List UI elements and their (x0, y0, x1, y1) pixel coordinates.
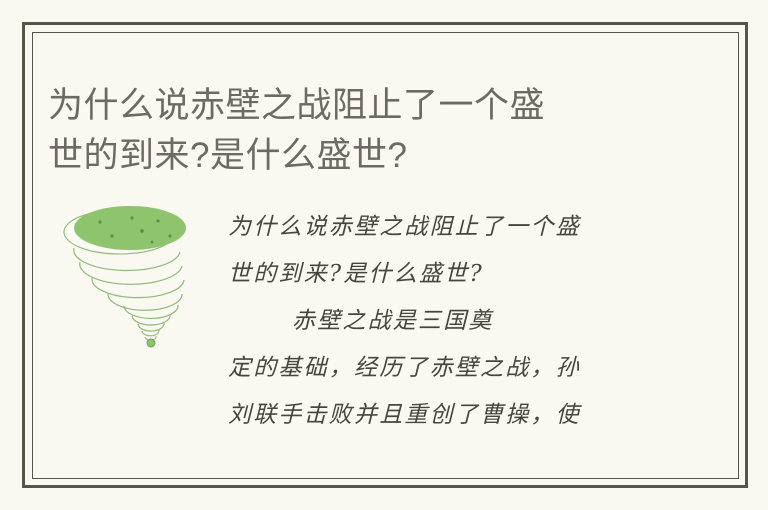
article-text: 为什么说赤壁之战阻止了一个盛 世的到来?是什么盛世? 赤壁之战是三国奠 定的基础… (228, 204, 658, 439)
article-line-2: 世的到来?是什么盛世? (228, 251, 658, 298)
article-line-3: 赤壁之战是三国奠 (228, 298, 658, 345)
article-line-1: 为什么说赤壁之战阻止了一个盛 (228, 204, 658, 251)
article-line-4: 定的基础，经历了赤壁之战，孙 (228, 345, 658, 392)
page-root: 为什么说赤壁之战阻止了一个盛 世的到来?是什么盛世? (0, 0, 768, 510)
page-title-line-2: 世的到来?是什么盛世? (48, 131, 648, 181)
tornado-illustration (48, 200, 208, 360)
page-content: 为什么说赤壁之战阻止了一个盛 世的到来?是什么盛世? (0, 0, 768, 510)
page-title: 为什么说赤壁之战阻止了一个盛 世的到来?是什么盛世? (48, 81, 648, 181)
article-block: 为什么说赤壁之战阻止了一个盛 世的到来?是什么盛世? 赤壁之战是三国奠 定的基础… (0, 196, 768, 466)
article-line-5: 刘联手击败并且重创了曹操，使 (228, 392, 658, 439)
page-title-line-1: 为什么说赤壁之战阻止了一个盛 (48, 81, 648, 131)
